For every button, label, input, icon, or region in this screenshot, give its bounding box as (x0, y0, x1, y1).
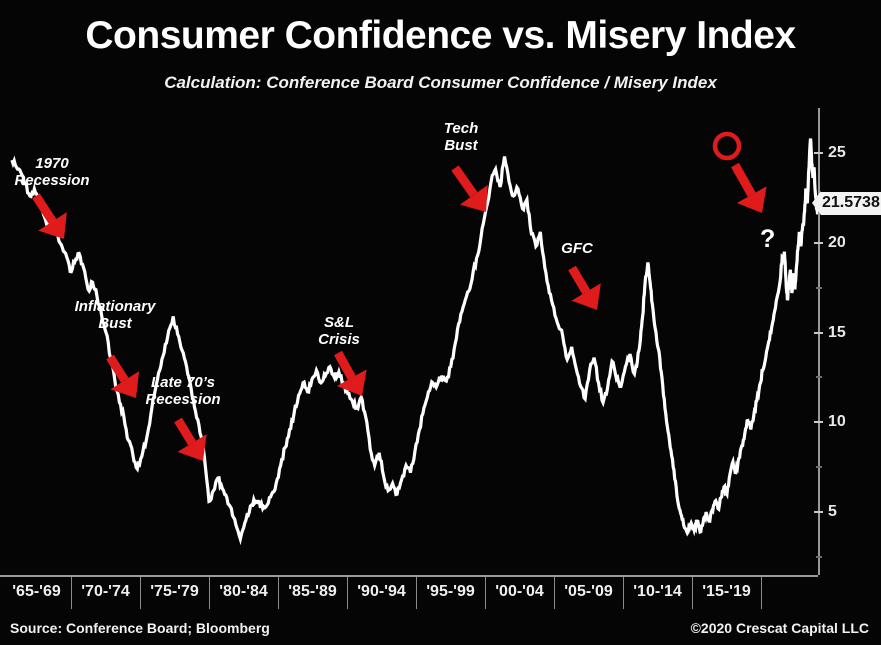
source-note: Source: Conference Board; Bloomberg (10, 620, 270, 636)
annotation-late-70s-recession: Late 70’s Recession (145, 374, 220, 409)
x-axis-separator (692, 577, 693, 609)
x-axis-separator (416, 577, 417, 609)
x-axis-separator (623, 577, 624, 609)
y-axis-line (818, 108, 820, 575)
x-tick-label-9094: '90-'94 (357, 583, 406, 601)
x-axis-separator (761, 577, 762, 609)
x-tick-label-7579: '75-'79 (150, 583, 199, 601)
y-tick-10 (814, 421, 823, 423)
x-axis-separator (71, 577, 72, 609)
y-tick-label-15: 15 (828, 325, 846, 341)
y-tick-minor-17.5 (816, 287, 822, 289)
x-axis-separator (278, 577, 279, 609)
callout-value: 21.5738 (821, 192, 881, 215)
x-axis-separator (554, 577, 555, 609)
y-tick-label-5: 5 (828, 504, 837, 520)
y-tick-15 (814, 332, 823, 334)
x-tick-label-1014: '10-'14 (633, 583, 682, 601)
chart-plot-area (0, 108, 818, 575)
y-tick-minor-12.5 (816, 376, 822, 378)
annotation-recession-1970: 1970 Recession (14, 155, 89, 190)
y-tick-minor-7.5 (816, 466, 822, 468)
y-tick-5 (814, 511, 823, 513)
page-title: Consumer Confidence vs. Misery Index (0, 14, 881, 58)
series-line-consumer-confidence-misery (12, 139, 818, 540)
question-mark-label: ? (760, 227, 775, 252)
y-tick-label-10: 10 (828, 414, 846, 430)
y-tick-label-25: 25 (828, 145, 846, 161)
x-tick-label-1519: '15-'19 (702, 583, 751, 601)
x-axis-separator (209, 577, 210, 609)
y-tick-label-20: 20 (828, 235, 846, 251)
x-tick-label-8589: '85-'89 (288, 583, 337, 601)
annotation-gfc: GFC (561, 240, 593, 257)
x-axis-separator (140, 577, 141, 609)
y-tick-25 (814, 152, 823, 154)
x-tick-label-0509: '05-'09 (564, 583, 613, 601)
x-tick-label-9599: '95-'99 (426, 583, 475, 601)
annotation-tech-bust: Tech Bust (444, 120, 478, 155)
x-axis-separator (347, 577, 348, 609)
annotation-sl-crisis: S&L Crisis (318, 314, 360, 349)
x-tick-label-8084: '80-'84 (219, 583, 268, 601)
y-tick-20 (814, 242, 823, 244)
copyright-note: ©2020 Crescat Capital LLC (691, 620, 869, 636)
current-value-callout: 21.5738 (812, 191, 881, 215)
x-axis-separator (485, 577, 486, 609)
y-tick-minor-2.5 (816, 556, 822, 558)
x-axis-line (0, 575, 818, 577)
annotation-inflationary-bust: Inflationary Bust (75, 298, 156, 333)
x-tick-label-6569: '65-'69 (12, 583, 61, 601)
callout-arrowhead (812, 191, 821, 215)
chart-line-svg (0, 108, 818, 575)
chart-page: Consumer Confidence vs. Misery Index Cal… (0, 0, 881, 645)
x-tick-label-7074: '70-'74 (81, 583, 130, 601)
page-subtitle: Calculation: Conference Board Consumer C… (0, 73, 881, 93)
x-tick-label-0004: '00-'04 (495, 583, 544, 601)
